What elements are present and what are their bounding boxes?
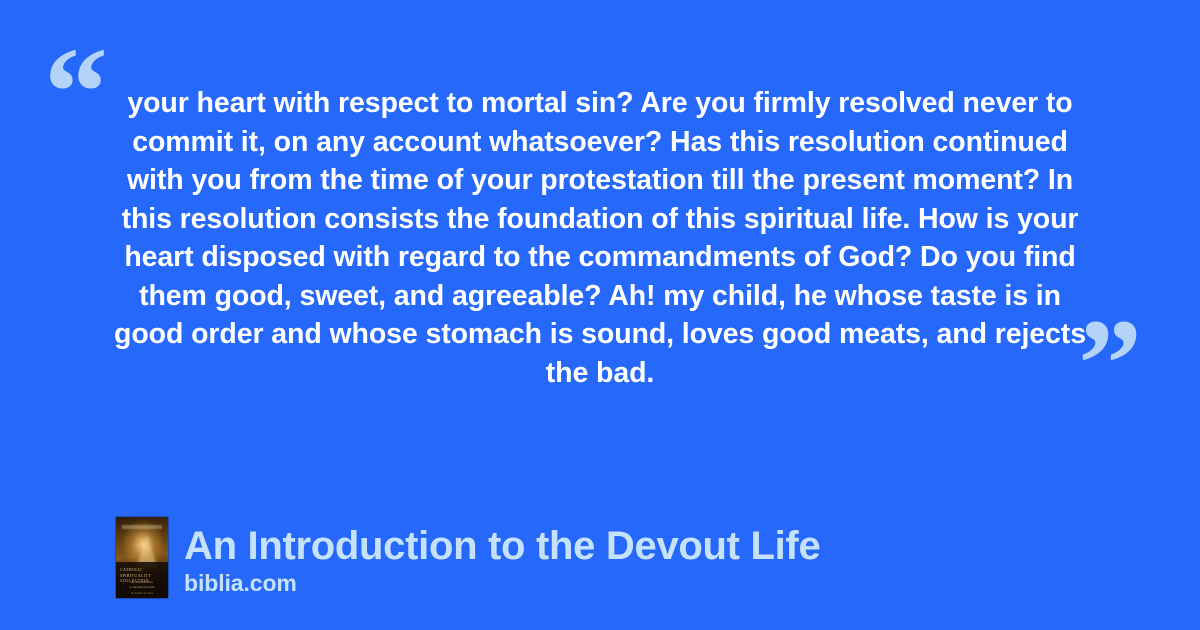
book-title: An Introduction to the Devout Life	[184, 523, 820, 569]
book-cover-top-rule	[122, 525, 162, 529]
site-name: biblia.com	[184, 569, 820, 597]
book-cover-thumbnail: CATHOLIC SPIRITUALITY COLLECTION An Intr…	[116, 517, 168, 598]
open-quote-icon: “	[44, 28, 108, 156]
book-cover-author: St. Francis de Sales	[120, 592, 164, 595]
quote-card: “ your heart with respect to mortal sin?…	[0, 0, 1200, 630]
attribution-footer: CATHOLIC SPIRITUALITY COLLECTION An Intr…	[116, 517, 820, 598]
quote-text: your heart with respect to mortal sin? A…	[112, 84, 1088, 392]
close-quote-icon: ”	[1078, 300, 1142, 428]
attribution-text: An Introduction to the Devout Life bibli…	[184, 523, 820, 598]
quote-block: “ your heart with respect to mortal sin?…	[0, 0, 1200, 470]
book-cover-subtitle: An Introduction to the Devout Life	[120, 580, 164, 589]
